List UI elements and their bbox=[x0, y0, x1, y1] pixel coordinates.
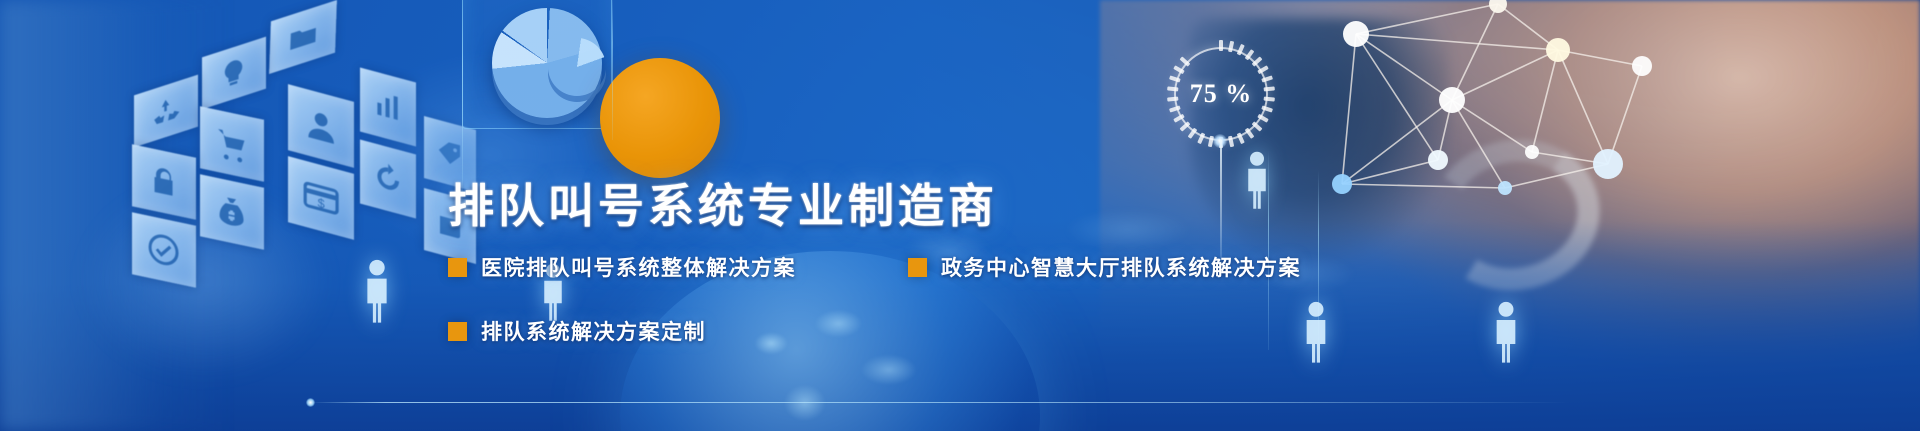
feature-row-2: 排队系统解决方案定制 bbox=[448, 316, 1608, 354]
bullet-square-icon bbox=[908, 258, 927, 277]
feature-label: 政务中心智慧大厅排队系统解决方案 bbox=[941, 252, 1301, 282]
banner-content: 排队叫号系统专业制造商 医院排队叫号系统整体解决方案 政务中心智慧大厅排队系统解… bbox=[0, 0, 1920, 431]
feature-item-government[interactable]: 政务中心智慧大厅排队系统解决方案 bbox=[908, 252, 1301, 282]
bullet-square-icon bbox=[448, 258, 467, 277]
page-title: 排队叫号系统专业制造商 bbox=[448, 170, 998, 236]
feature-label: 排队系统解决方案定制 bbox=[481, 316, 706, 346]
bullet-square-icon bbox=[448, 322, 467, 341]
feature-list: 医院排队叫号系统整体解决方案 政务中心智慧大厅排队系统解决方案 排队系统解决方案… bbox=[448, 252, 1608, 354]
feature-item-custom[interactable]: 排队系统解决方案定制 bbox=[448, 316, 706, 346]
feature-row-1: 医院排队叫号系统整体解决方案 政务中心智慧大厅排队系统解决方案 bbox=[448, 252, 1608, 290]
feature-label: 医院排队叫号系统整体解决方案 bbox=[481, 252, 796, 282]
promo-banner: $ bbox=[0, 0, 1920, 431]
feature-item-hospital[interactable]: 医院排队叫号系统整体解决方案 bbox=[448, 252, 796, 282]
